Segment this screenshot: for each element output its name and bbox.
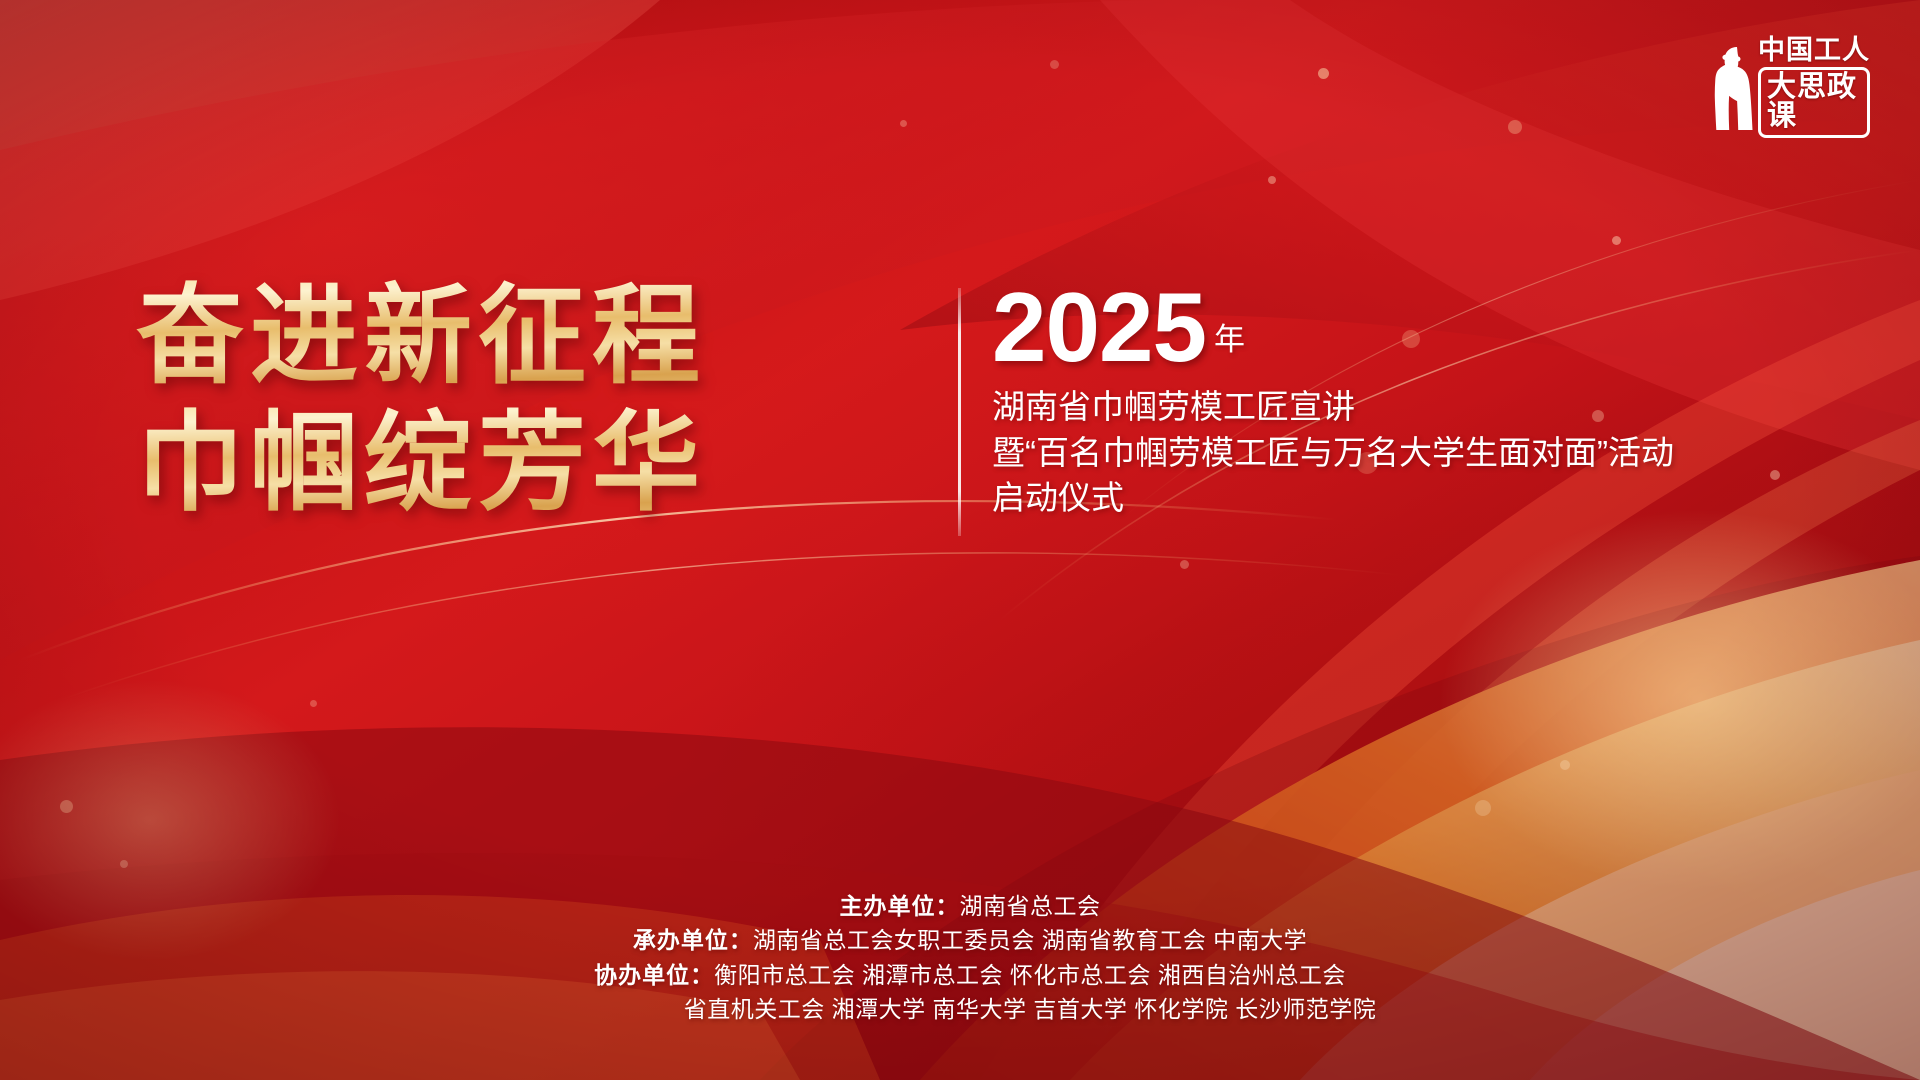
organizer-label: 协办单位： <box>574 962 714 990</box>
vertical-divider <box>958 288 961 536</box>
bokeh-dot <box>1612 236 1621 245</box>
event-year-unit: 年 <box>1214 314 1245 372</box>
poster-canvas: 中国工人 大思政课 奋进新征程 巾帼绽芳华 2025 年 湖南省巾帼劳模工匠宣讲… <box>0 0 1920 1080</box>
headline-line-2: 巾帼绽芳华 <box>136 399 926 526</box>
headline-line-1: 奋进新征程 <box>136 272 926 399</box>
organizer-value: 湖南省总工会 <box>960 893 1101 921</box>
bokeh-dot <box>1508 120 1522 134</box>
event-detail-block: 2025 年 湖南省巾帼劳模工匠宣讲 暨“百名巾帼劳模工匠与万名大学生面对面”活… <box>992 282 1612 521</box>
event-year: 2025 <box>992 282 1206 372</box>
bokeh-dot <box>1268 176 1276 184</box>
worker-silhouette-icon <box>1714 44 1754 130</box>
organizer-row: 承办单位： 湖南省总工会女职工委员会 湖南省教育工会 中南大学 <box>613 927 1307 955</box>
brand-logo: 中国工人 大思政课 <box>1710 38 1878 136</box>
organizer-label: 承办单位： <box>613 927 753 955</box>
bokeh-dot <box>1318 68 1329 79</box>
bokeh-dot <box>1180 560 1189 569</box>
event-subtitle-2: 暨“百名巾帼劳模工匠与万名大学生面对面”活动 <box>992 430 1612 476</box>
bokeh-dot <box>310 700 317 707</box>
organizer-value: 省直机关工会 湘潭大学 南华大学 吉首大学 怀化学院 长沙师范学院 <box>684 996 1376 1024</box>
event-subtitle-1: 湖南省巾帼劳模工匠宣讲 <box>992 384 1612 430</box>
bokeh-dot <box>1770 470 1780 480</box>
event-subtitle-3: 启动仪式 <box>992 475 1612 521</box>
organizer-row-continued: 协办单位： 省直机关工会 湘潭大学 南华大学 吉首大学 怀化学院 长沙师范学院 <box>544 996 1376 1024</box>
organizer-row: 协办单位： 衡阳市总工会 湘潭市总工会 怀化市总工会 湘西自治州总工会 <box>574 962 1346 990</box>
bokeh-dot <box>1475 800 1491 816</box>
logo-line-1: 中国工人 <box>1758 37 1870 64</box>
bokeh-dot <box>1050 60 1059 69</box>
logo-line-2: 大思政课 <box>1758 67 1870 138</box>
organizer-value: 湖南省总工会女职工委员会 湖南省教育工会 中南大学 <box>753 927 1307 955</box>
bokeh-dot <box>1560 760 1570 770</box>
headline-block: 奋进新征程 巾帼绽芳华 <box>136 272 926 527</box>
organizer-label: 主办单位： <box>820 893 960 921</box>
organizer-row: 主办单位： 湖南省总工会 <box>820 893 1101 921</box>
bokeh-dot <box>900 120 907 127</box>
organizer-list: 主办单位： 湖南省总工会 承办单位： 湖南省总工会女职工委员会 湖南省教育工会 … <box>0 893 1920 1024</box>
bokeh-dot <box>120 860 128 868</box>
event-year-row: 2025 年 <box>992 282 1612 372</box>
organizer-value: 衡阳市总工会 湘潭市总工会 怀化市总工会 湘西自治州总工会 <box>714 962 1346 990</box>
bokeh-dot <box>60 800 73 813</box>
